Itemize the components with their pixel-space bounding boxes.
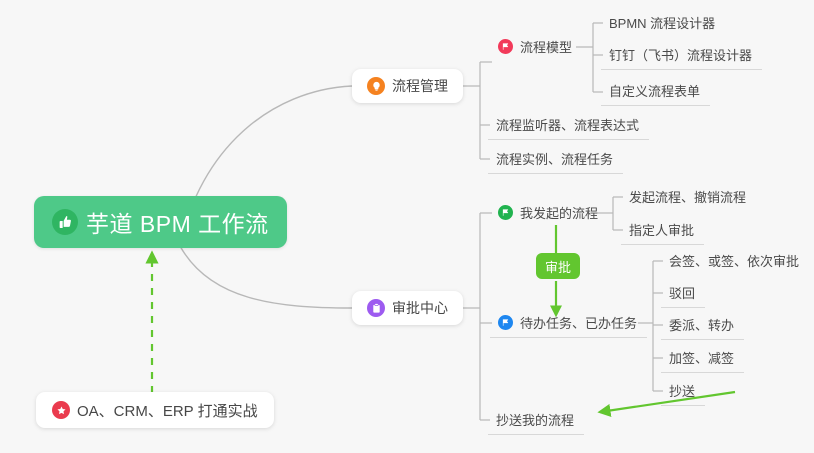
mindmap-canvas: 芋道 BPM 工作流 流程管理 流程模型 BPMN 流程设计器 钉钉（飞书）流程…: [0, 0, 814, 453]
branch-approval-center[interactable]: 审批中心: [352, 291, 463, 325]
branch-approval-center-label: 审批中心: [392, 298, 448, 318]
root-node-label: 芋道 BPM 工作流: [86, 205, 269, 239]
node-custom-form-label: 自定义流程表单: [609, 81, 700, 100]
node-todo-done-task[interactable]: 待办任务、已办任务: [490, 308, 647, 338]
node-add-remove-sign[interactable]: 加签、减签: [661, 343, 744, 373]
node-my-started-process-label: 我发起的流程: [520, 203, 598, 222]
node-integration-practice-label: OA、CRM、ERP 打通实战: [77, 400, 258, 421]
node-listener-expression-label: 流程监听器、流程表达式: [496, 115, 639, 134]
node-todo-done-task-label: 待办任务、已办任务: [520, 313, 637, 332]
clipboard-icon: [367, 299, 385, 317]
node-my-started-process[interactable]: 我发起的流程: [490, 198, 608, 228]
node-assignee-approve[interactable]: 指定人审批: [621, 215, 704, 245]
node-reject-label: 驳回: [669, 283, 695, 302]
node-listener-expression[interactable]: 流程监听器、流程表达式: [488, 110, 649, 140]
node-delegate-transfer-label: 委派、转办: [669, 315, 734, 334]
node-cc[interactable]: 抄送: [661, 376, 705, 406]
thumbs-up-icon: [52, 209, 78, 235]
node-bpmn-designer[interactable]: BPMN 流程设计器: [601, 8, 725, 38]
node-start-cancel-label: 发起流程、撤销流程: [629, 187, 746, 206]
root-node[interactable]: 芋道 BPM 工作流: [34, 196, 287, 248]
annotation-chip-approval: 审批: [536, 253, 580, 279]
node-cc-to-me[interactable]: 抄送我的流程: [488, 405, 584, 435]
flag-blue-icon: [498, 315, 513, 330]
branch-process-management-label: 流程管理: [392, 76, 448, 96]
node-cc-label: 抄送: [669, 381, 695, 400]
node-instance-task-label: 流程实例、流程任务: [496, 149, 613, 168]
node-cc-to-me-label: 抄送我的流程: [496, 410, 574, 429]
node-process-model-label: 流程模型: [520, 37, 572, 56]
node-countersign-label: 会签、或签、依次审批: [669, 251, 799, 270]
node-assignee-approve-label: 指定人审批: [629, 220, 694, 239]
node-delegate-transfer[interactable]: 委派、转办: [661, 310, 744, 340]
annotation-chip-approval-label: 审批: [545, 257, 571, 276]
node-start-cancel[interactable]: 发起流程、撤销流程: [621, 182, 756, 212]
flag-red-icon: [498, 39, 513, 54]
flag-green-icon: [498, 205, 513, 220]
node-process-model[interactable]: 流程模型: [490, 32, 582, 62]
node-bpmn-designer-label: BPMN 流程设计器: [609, 13, 715, 32]
node-instance-task[interactable]: 流程实例、流程任务: [488, 144, 623, 174]
node-add-remove-sign-label: 加签、减签: [669, 348, 734, 367]
link-root-to-approval-center: [180, 246, 352, 308]
star-icon: [52, 401, 70, 419]
branch-process-management[interactable]: 流程管理: [352, 69, 463, 103]
node-integration-practice[interactable]: OA、CRM、ERP 打通实战: [36, 392, 274, 428]
node-reject[interactable]: 驳回: [661, 278, 705, 308]
node-custom-form[interactable]: 自定义流程表单: [601, 76, 710, 106]
lightbulb-icon: [367, 77, 385, 95]
node-dingtalk-designer[interactable]: 钉钉（飞书）流程设计器: [601, 40, 762, 70]
node-countersign[interactable]: 会签、或签、依次审批: [661, 246, 809, 276]
node-dingtalk-designer-label: 钉钉（飞书）流程设计器: [609, 45, 752, 64]
